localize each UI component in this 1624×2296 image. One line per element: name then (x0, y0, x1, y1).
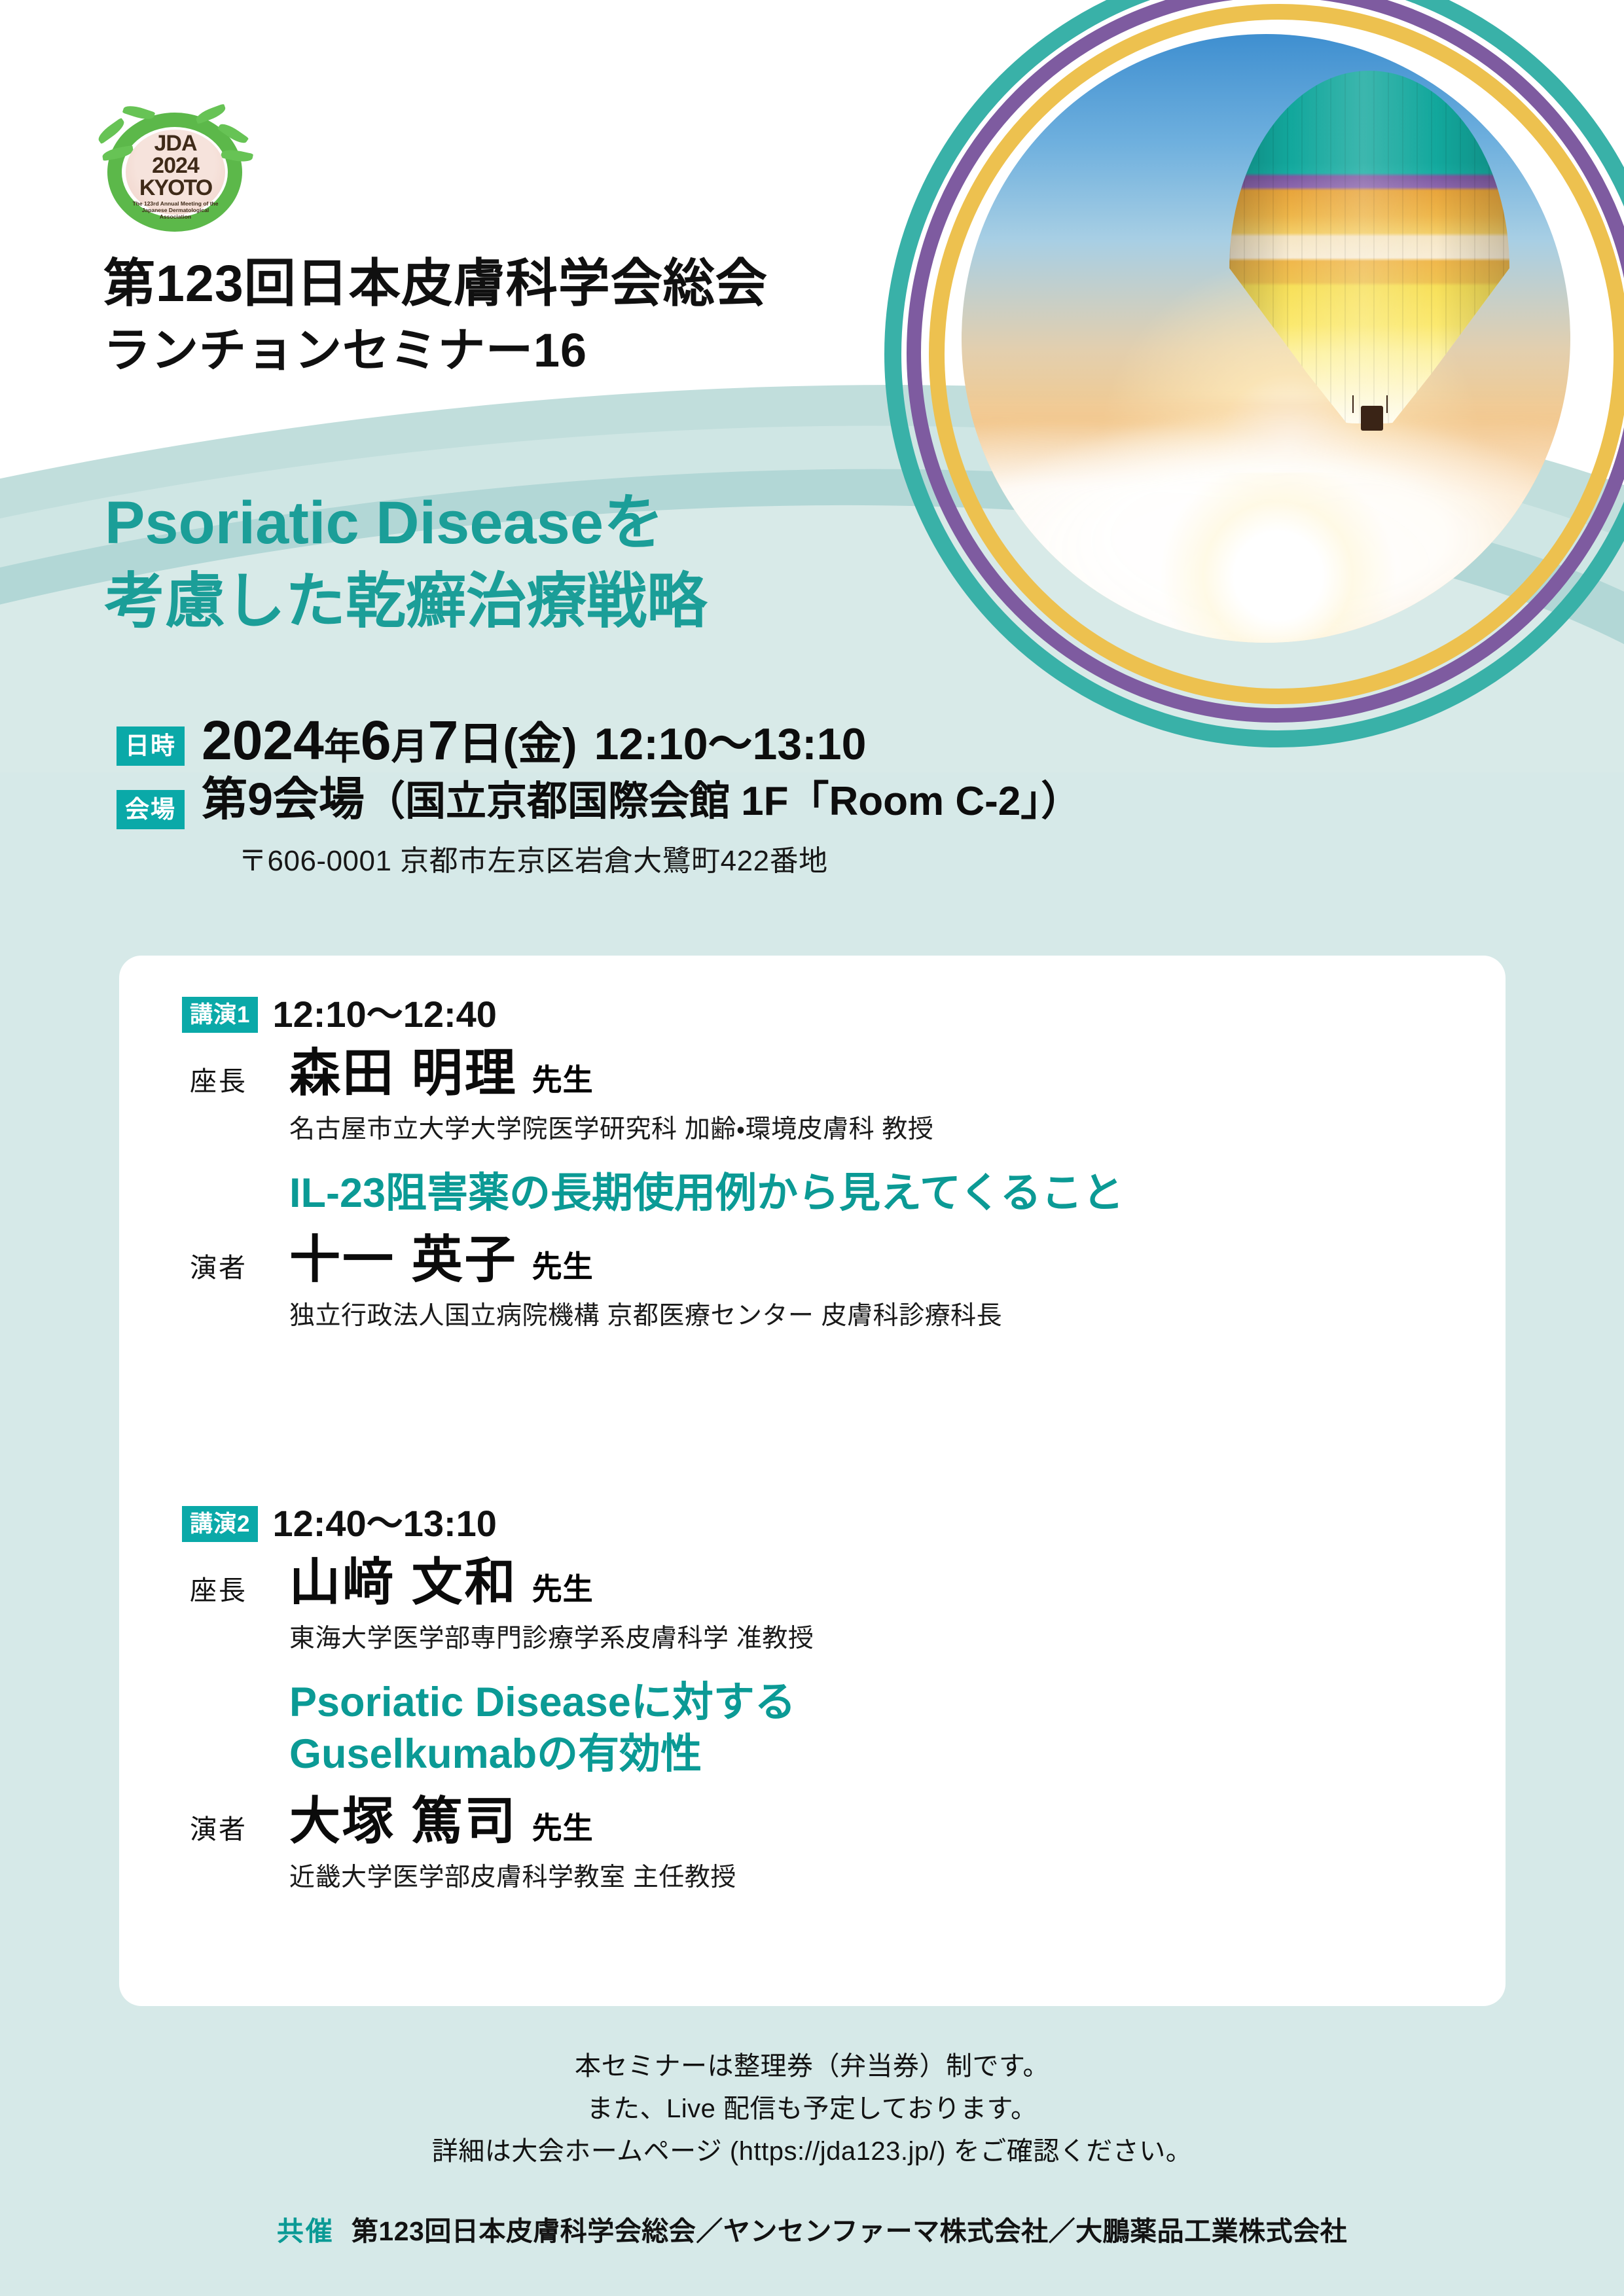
logo-line-year: 2024 (126, 154, 225, 177)
note-line-2: また、Live 配信も予定しております。 (0, 2088, 1624, 2130)
venue-row: 会場 第9会場（国立京都国際会館 1F「Room C-2」） (117, 776, 1530, 829)
session-2-chair-role: 座長 (182, 1568, 289, 1607)
date-month-unit: 月 (391, 726, 428, 767)
date-year: 2024 (202, 709, 324, 771)
date-row: 日時 2024年6月7日(金)12:10〜13:10 (117, 712, 1530, 769)
session-2: 講演2 12:40〜13:10 座長 山﨑 文和 先生 東海大学医学部専門診療学… (119, 1505, 1506, 1893)
hot-air-balloon-icon (1229, 71, 1509, 423)
venue-value: 第9会場（国立京都国際会館 1F「Room C-2」） (202, 776, 1081, 823)
header-block: 第123回日本皮膚科学会総会 ランチョンセミナー16 (103, 257, 768, 376)
session-1-chair-role: 座長 (182, 1059, 289, 1098)
session-2-chair-name: 山﨑 文和 (289, 1556, 518, 1607)
session-1-chair-name: 森田 明理 (289, 1047, 518, 1098)
session-2-lecture-title: Psoriatic Diseaseに対する Guselkumabの有効性 (289, 1677, 1506, 1781)
sponsor-label: 共催 (277, 2216, 334, 2246)
title-line-1: Psoriatic Diseaseを (105, 484, 707, 563)
session-1-chair-row: 座長 森田 明理 先生 (182, 1047, 1506, 1100)
logo-line-jda: JDA (126, 132, 225, 154)
venue-address: 〒606-0001 京都市左京区岩倉大鷺町422番地 (238, 837, 1530, 879)
balloon-basket (1361, 406, 1383, 431)
session-1-chair-honorific: 先生 (532, 1056, 594, 1100)
session-2-chair-honorific: 先生 (532, 1566, 594, 1609)
time-range: 12:10〜13:10 (594, 719, 867, 769)
congress-name: 第123回日本皮膚科学会総会 (103, 257, 768, 311)
date-month: 6 (361, 709, 391, 771)
session-2-header: 講演2 12:40〜13:10 (182, 1505, 1506, 1542)
session-2-speaker-affiliation: 近畿大学医学部皮膚科学教室 主任教授 (289, 1857, 1506, 1893)
event-info: 日時 2024年6月7日(金)12:10〜13:10 会場 第9会場（国立京都国… (117, 712, 1530, 879)
session-1-time: 12:10〜12:40 (272, 996, 496, 1033)
balloon-shading (1229, 71, 1509, 423)
sun-glow (1144, 473, 1412, 643)
seminar-notes: 本セミナーは整理券（弁当券）制です。 また、Live 配信も予定しております。 … (0, 2045, 1624, 2172)
session-1-speaker-honorific: 先生 (532, 1243, 594, 1286)
balloon-riser-right (1386, 395, 1388, 413)
session-1-speaker-name: 十一 英子 (289, 1234, 518, 1285)
poster-root: JDA 2024 KYOTO The 123rd Annual Meeting … (0, 0, 1624, 2296)
balloon-envelope (1229, 71, 1509, 423)
address-row: 〒606-0001 京都市左京区岩倉大鷺町422番地 (117, 837, 1530, 879)
session-1-tag: 講演1 (182, 997, 258, 1033)
date-day-unit: 日(金) (458, 719, 577, 769)
session-1-header: 講演1 12:10〜12:40 (182, 996, 1506, 1033)
date-badge: 日時 (117, 726, 185, 766)
sponsor-credits: 共催第123回日本皮膚科学会総会／ヤンセンファーマ株式会社／大鵬薬品工業株式会社 (0, 2209, 1624, 2248)
venue-detail: （国立京都国際会館 1F「Room C-2」） (365, 779, 1081, 824)
note-line-3: 詳細は大会ホームページ (https://jda123.jp/) をご確認くださ… (0, 2130, 1624, 2173)
session-2-chair-row: 座長 山﨑 文和 先生 (182, 1556, 1506, 1609)
session-1-speaker-role: 演者 (182, 1246, 289, 1285)
session-2-speaker-role: 演者 (182, 1807, 289, 1846)
session-1-chair-affiliation: 名古屋市立大学大学院医学研究科 加齢・環境皮膚科 教授 (289, 1109, 1506, 1145)
jda-logo: JDA 2024 KYOTO The 123rd Annual Meeting … (97, 110, 257, 234)
session-1-lecture-title: IL-23阻害薬の長期使用例から見えてくること (289, 1168, 1506, 1219)
logo-text: JDA 2024 KYOTO The 123rd Annual Meeting … (126, 132, 225, 220)
note-line-1: 本セミナーは整理券（弁当券）制です。 (0, 2045, 1624, 2088)
hero-balloon-image (884, 0, 1624, 720)
seminar-name: ランチョンセミナー16 (103, 327, 768, 376)
logo-line-kyoto: KYOTO (126, 177, 225, 199)
session-1-speaker-affiliation: 独立行政法人国立病院機構 京都医療センター 皮膚科診療科長 (289, 1295, 1506, 1332)
session-2-tag: 講演2 (182, 1506, 258, 1542)
logo-subtitle: The 123rd Annual Meeting of the Japanese… (126, 201, 225, 220)
session-2-title-line-2: Guselkumabの有効性 (289, 1729, 1506, 1780)
session-2-title-line-1: Psoriatic Diseaseに対する (289, 1677, 1506, 1729)
date-value: 2024年6月7日(金)12:10〜13:10 (202, 712, 866, 769)
date-day: 7 (428, 709, 459, 771)
session-2-chair-affiliation: 東海大学医学部専門診療学系皮膚科学 准教授 (289, 1618, 1506, 1655)
session-2-time: 12:40〜13:10 (272, 1505, 496, 1542)
venue-badge: 会場 (117, 790, 185, 829)
session-2-speaker-row: 演者 大塚 篤司 先生 (182, 1795, 1506, 1848)
session-1-title-line-1: IL-23阻害薬の長期使用例から見えてくること (289, 1168, 1506, 1219)
session-1-speaker-row: 演者 十一 英子 先生 (182, 1234, 1506, 1286)
sponsor-value: 第123回日本皮膚科学会総会／ヤンセンファーマ株式会社／大鵬薬品工業株式会社 (352, 2216, 1347, 2246)
balloon-photo (962, 34, 1570, 643)
session-1: 講演1 12:10〜12:40 座長 森田 明理 先生 名古屋市立大学大学院医学… (119, 996, 1506, 1332)
program-card: 講演1 12:10〜12:40 座長 森田 明理 先生 名古屋市立大学大学院医学… (119, 956, 1506, 2006)
page-title: Psoriatic Diseaseを 考慮した乾癬治療戦略 (105, 484, 707, 641)
balloon-riser-left (1352, 395, 1354, 413)
date-year-unit: 年 (324, 726, 361, 767)
venue-main: 第9会場 (202, 774, 365, 825)
session-2-speaker-name: 大塚 篤司 (289, 1795, 518, 1846)
session-2-speaker-honorific: 先生 (532, 1804, 594, 1848)
title-line-2: 考慮した乾癬治療戦略 (105, 563, 707, 641)
